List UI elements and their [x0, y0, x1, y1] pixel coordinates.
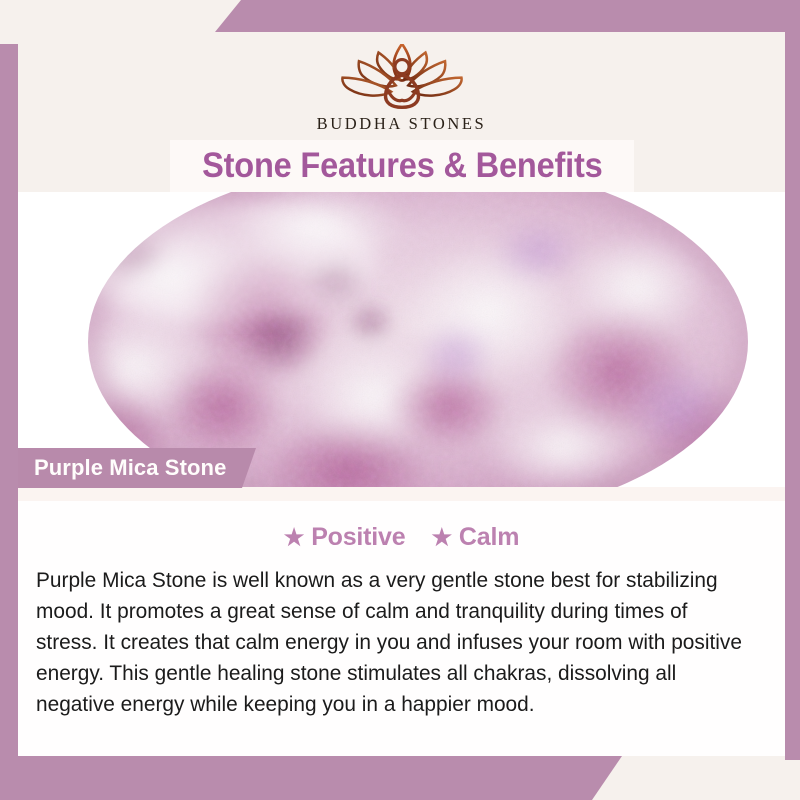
star-icon: ★: [431, 526, 451, 549]
frame-band-top: [215, 0, 800, 32]
description-text: Purple Mica Stone is well known as a ver…: [36, 565, 747, 720]
product-photo: [18, 192, 785, 487]
frame-band-bottom: [0, 756, 622, 800]
brand-name: BUDDHA STONES: [317, 114, 487, 134]
stone-illustration: [18, 192, 785, 487]
info-card: BUDDHA STONES Stone Features & Benefits: [18, 44, 785, 756]
description-panel: ★ Positive ★ Calm Purple Mica Stone is w…: [18, 487, 785, 756]
stone-name-label: Purple Mica Stone: [34, 455, 226, 481]
tag-positive: ★ Positive: [284, 523, 406, 552]
brand-logo: BUDDHA STONES: [18, 44, 785, 144]
stone-name-badge: Purple Mica Stone: [18, 448, 256, 488]
frame-band-left: [0, 44, 18, 800]
attribute-tags: ★ Positive ★ Calm: [18, 523, 785, 552]
lotus-meditation-icon: [322, 44, 482, 112]
title-banner: Stone Features & Benefits: [18, 140, 785, 192]
title-box: Stone Features & Benefits: [170, 140, 634, 192]
tag-positive-label: Positive: [311, 523, 405, 552]
star-icon: ★: [284, 526, 304, 549]
tag-calm: ★ Calm: [431, 523, 519, 552]
panel-top-tint: [18, 487, 785, 501]
frame-band-right: [785, 0, 800, 760]
page-title: Stone Features & Benefits: [202, 146, 603, 186]
tag-calm-label: Calm: [459, 523, 519, 552]
